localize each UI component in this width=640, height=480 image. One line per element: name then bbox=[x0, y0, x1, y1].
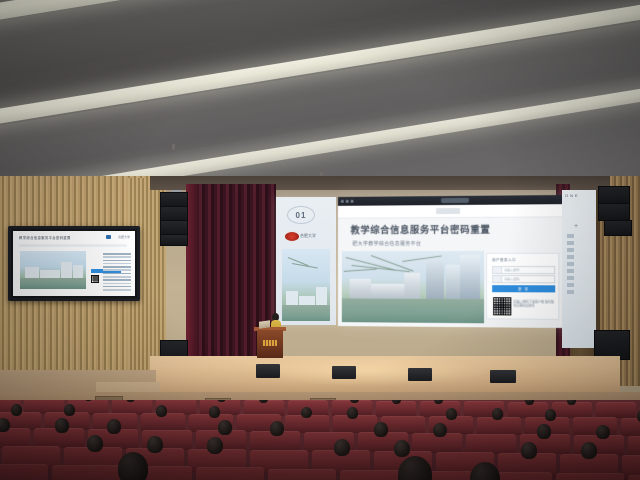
audience-member-head bbox=[55, 418, 69, 432]
sprinkler-head-icon bbox=[172, 144, 175, 150]
lectern-crest-icon bbox=[263, 340, 277, 346]
university-logo-icon bbox=[106, 235, 111, 239]
lake-water bbox=[342, 298, 484, 323]
wall-mounted-tv: 教学综合信息服务平台密码重置 合肥大学 bbox=[8, 226, 140, 301]
browser-tab[interactable] bbox=[436, 208, 460, 214]
theater-seat bbox=[196, 467, 264, 480]
audience-member-head bbox=[156, 405, 167, 417]
audience-member-head bbox=[209, 406, 220, 418]
theater-seat bbox=[556, 473, 624, 480]
theater-seat bbox=[0, 464, 48, 480]
projection-screen-right-panel: ONE + bbox=[562, 190, 596, 348]
username-field[interactable]: 请输入账号 bbox=[492, 266, 555, 274]
audience-member-head bbox=[0, 418, 10, 432]
tv-subheader-bar bbox=[19, 244, 127, 247]
campus-photo-left bbox=[282, 249, 330, 321]
audience-member-head bbox=[374, 422, 388, 436]
audience-seating bbox=[0, 400, 640, 480]
username-placeholder: 请输入账号 bbox=[502, 268, 519, 272]
audience-member-head bbox=[446, 408, 457, 420]
line-array-speaker bbox=[160, 206, 188, 221]
stage-floor-monitor bbox=[490, 370, 516, 383]
slide-subtitle: 肥大学教学综合信息服务平台 bbox=[353, 240, 422, 247]
audience-member-head bbox=[581, 442, 597, 459]
browser-window-controls-icon bbox=[341, 200, 354, 203]
theater-seat bbox=[268, 469, 336, 480]
slide-thumbnail-rail[interactable] bbox=[567, 234, 574, 294]
theater-seat bbox=[573, 417, 617, 435]
projection-screen-left-panel: 01 合肥大学 bbox=[276, 197, 336, 325]
audience-member-head bbox=[537, 424, 551, 438]
tv-screen: 教学综合信息服务平台密码重置 合肥大学 bbox=[13, 231, 135, 296]
tv-brand-label: 合肥大学 bbox=[118, 235, 130, 239]
theater-seat bbox=[621, 418, 640, 436]
browser-tab-strip bbox=[338, 204, 565, 219]
theater-seat bbox=[596, 402, 636, 418]
line-array-speaker bbox=[160, 192, 188, 207]
university-seal-label: 合肥大学 bbox=[300, 233, 316, 239]
line-array-speaker bbox=[598, 186, 630, 204]
audience-member-head bbox=[107, 419, 121, 433]
slide-thumbnail[interactable] bbox=[567, 283, 574, 287]
slide-title: 教学综合信息服务平台密码重置 bbox=[351, 222, 491, 237]
audience-member-head bbox=[218, 420, 232, 434]
expand-plus-icon[interactable]: + bbox=[574, 223, 578, 230]
stage-floor-monitor bbox=[332, 366, 356, 379]
audience-member-head bbox=[567, 400, 576, 405]
audience-member-head bbox=[207, 437, 223, 454]
slide-thumbnail[interactable] bbox=[567, 269, 574, 273]
qr-code-icon[interactable] bbox=[492, 296, 512, 316]
theater-seat bbox=[628, 475, 640, 480]
audience-member-head bbox=[11, 404, 22, 416]
slide-thumbnail[interactable] bbox=[567, 255, 574, 259]
slide-thumbnail[interactable] bbox=[567, 248, 574, 252]
audience-member-head bbox=[392, 400, 401, 404]
audience-member-head bbox=[525, 400, 534, 405]
stage-light-glow bbox=[250, 356, 490, 386]
audience-member-head bbox=[334, 439, 350, 456]
audience-member-head bbox=[147, 436, 163, 453]
slide-thumbnail[interactable] bbox=[567, 290, 574, 294]
slide-thumbnail[interactable] bbox=[567, 234, 574, 238]
right-panel-header: ONE bbox=[565, 193, 580, 198]
slide-thumbnail[interactable] bbox=[567, 241, 574, 245]
audience-member-head bbox=[492, 408, 503, 420]
audience-member-head bbox=[545, 409, 556, 421]
theater-seat bbox=[52, 465, 120, 480]
ceiling bbox=[0, 0, 640, 186]
auditorium-photo: 01 合肥大学 教学综合信息服务平台密码重置 肥大学教学综合信息服务平台 bbox=[0, 0, 640, 480]
line-array-speaker bbox=[604, 220, 632, 236]
tv-text-column bbox=[103, 253, 131, 292]
slide-thumbnail[interactable] bbox=[567, 276, 574, 280]
theater-seat bbox=[628, 436, 640, 456]
login-button[interactable]: 登 录 bbox=[492, 285, 555, 292]
audience-member-head bbox=[87, 435, 103, 452]
login-panel: 用户登录入口 请输入账号 请输入密码 登 录 扫描二维码下载客户端 随时随地掌握… bbox=[486, 253, 559, 320]
line-array-speaker bbox=[598, 203, 630, 221]
campus-hero-photo bbox=[342, 251, 484, 323]
audience-member-head bbox=[270, 421, 284, 435]
stage-floor-monitor bbox=[408, 368, 432, 381]
audience-member-head bbox=[521, 442, 537, 459]
browser-address-bar[interactable] bbox=[441, 198, 469, 203]
line-array-speaker bbox=[160, 234, 188, 246]
password-field[interactable]: 请输入密码 bbox=[492, 275, 555, 283]
audience-member-head bbox=[118, 452, 148, 480]
theater-seat bbox=[466, 434, 516, 454]
audience-member-head bbox=[596, 425, 610, 439]
stage-floor-monitor bbox=[256, 364, 280, 378]
lock-icon bbox=[493, 276, 502, 282]
slide-thumbnail[interactable] bbox=[567, 262, 574, 266]
password-placeholder: 请输入密码 bbox=[502, 277, 519, 281]
audience-member-head bbox=[347, 407, 358, 419]
tv-qr-code-icon bbox=[91, 275, 99, 283]
user-icon bbox=[493, 267, 502, 273]
audience-member-head bbox=[64, 404, 75, 416]
tv-campus-photo bbox=[20, 251, 86, 289]
audience-member-head bbox=[433, 423, 447, 437]
qr-caption: 扫描二维码下载客户端 随时随地掌握校园服务 bbox=[513, 299, 554, 308]
login-panel-title: 用户登录入口 bbox=[492, 258, 516, 263]
projection-screen-main: 教学综合信息服务平台密码重置 肥大学教学综合信息服务平台 用户登录入口 请输入账… bbox=[338, 195, 565, 328]
slide-section-number: 01 bbox=[287, 206, 315, 224]
audience-member-head bbox=[394, 440, 410, 457]
line-array-speaker bbox=[160, 220, 188, 235]
university-seal-icon bbox=[284, 231, 300, 242]
tv-page-heading: 教学综合信息服务平台密码重置 bbox=[19, 235, 71, 240]
